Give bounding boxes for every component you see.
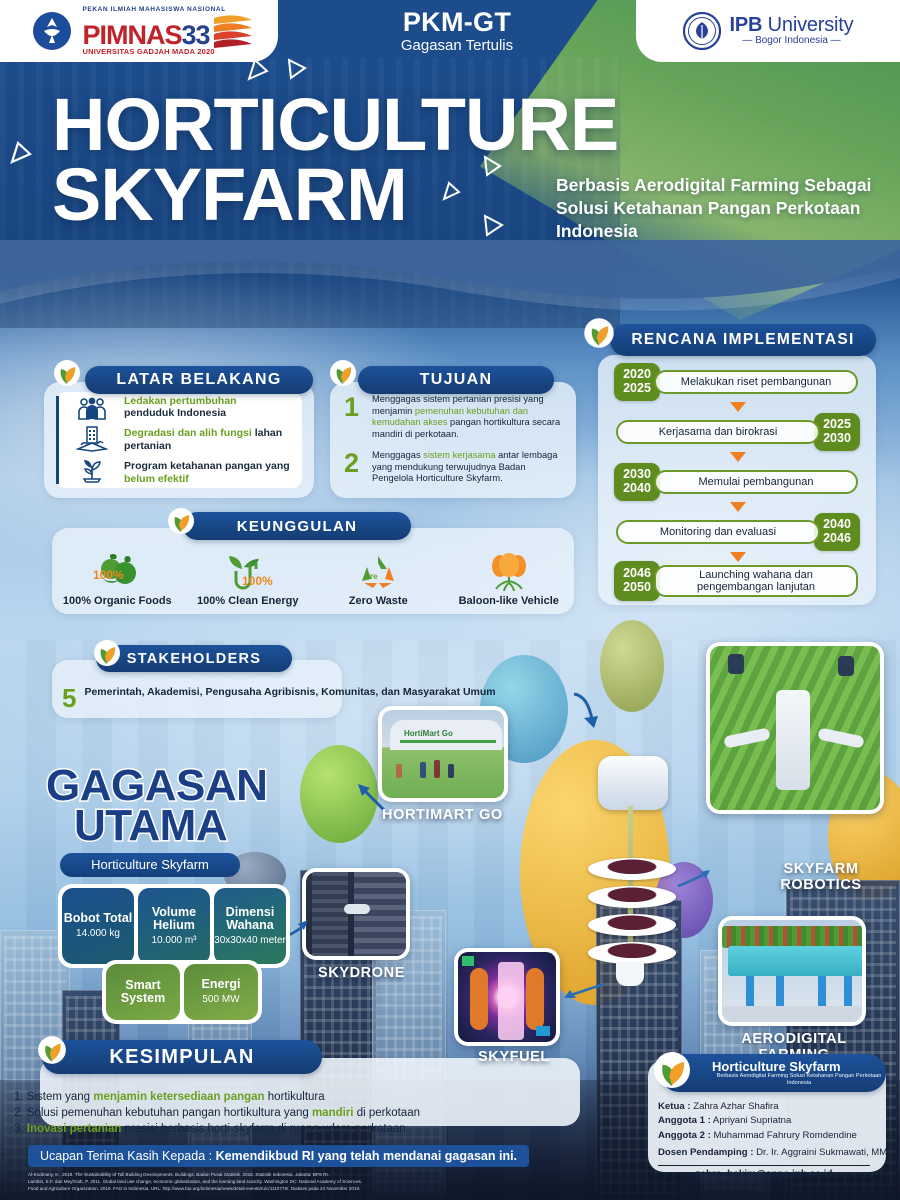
caption-skyfuel: SKYFUEL (478, 1050, 550, 1066)
ipb-name: IPB University (730, 15, 854, 36)
airship-ring-1 (588, 858, 676, 880)
team-subtitle: Berbasis Aerodigital Farming Solusi Keta… (712, 1073, 886, 1086)
list-item: 2. Solusi pemenuhan kebutuhan pangan hor… (14, 1106, 420, 1122)
airship-ring-2 (588, 886, 676, 908)
advantage-label: Zero Waste (349, 595, 408, 607)
main-idea-pill: Horticulture Skyfarm (60, 853, 240, 877)
pimnas-number: 33 (181, 23, 209, 47)
main-idea-line2: UTAMA (74, 806, 267, 846)
team-title: Horticulture Skyfarm (712, 1060, 841, 1074)
objective-number: 2 (344, 450, 364, 485)
photo-image (710, 646, 880, 810)
timeline-arrow-icon (729, 451, 747, 463)
airship-gondola (598, 756, 668, 810)
hero-subtitle: Berbasis Aerodigital Farming Sebagai Sol… (556, 174, 876, 243)
ipb-logo-block: IPB University — Bogor Indonesia — (636, 0, 900, 62)
advantages-grid: 100% 100% Organic Foods 100% 100% Clean … (52, 552, 574, 607)
leaf-badge-icon (36, 1034, 68, 1066)
list-item: 1. Sistem yang menjamin ketersediaan pan… (14, 1090, 420, 1106)
kemendikbud-logo-icon (32, 11, 72, 51)
list-item: Ledakan pertumbuhanpenduduk Indonesia (124, 395, 296, 421)
airship-tail (616, 962, 644, 986)
photo-skyfuel (454, 948, 560, 1046)
balloon-olive (600, 620, 664, 712)
advantage-item: Baloon-like Vehicle (444, 552, 575, 607)
timeline-label: Kerjasama dan birokrasi (616, 420, 820, 444)
team-email: zahra_hakim@apps.ipb.ac.id (658, 1169, 870, 1180)
caption-hortimart-go: HORTIMART GO (382, 808, 503, 824)
list-item: Program ketahanan pangan yang belum efek… (124, 460, 296, 486)
leaf-badge-icon (652, 1050, 692, 1090)
background-content: Ledakan pertumbuhanpenduduk Indonesia De… (56, 392, 302, 488)
timeline-label: Launching wahana dan pengembangan lanjut… (654, 565, 858, 597)
arrow-to-airship-icon (570, 690, 604, 730)
people-icon (75, 397, 109, 421)
top-logo-bar: PEKAN ILMIAH MAHASISWA NASIONAL PIMNAS 3… (0, 0, 900, 62)
triangle-decor-5 (480, 154, 504, 178)
pimnas-flag-icon (212, 14, 254, 48)
clean-energy-icon: 100% (220, 552, 276, 592)
reference-item: Lambin, E.F. dan Meyfroidt, P. 2011. Glo… (28, 1179, 588, 1186)
leaf-badge-icon (166, 506, 196, 536)
team-advisor-row: Dosen Pendamping : Dr. Ir. Aggraini Sukm… (658, 1146, 890, 1160)
caption-skydrone: SKYDRONE (318, 966, 405, 982)
timeline-label: Memulai pembangunan (654, 470, 858, 494)
advantage-label: 100% Clean Energy (197, 595, 299, 607)
photo-image (458, 952, 556, 1042)
objective-text: Menggagas sistem pertanian presisi yang … (372, 394, 566, 440)
airship-ring-3 (588, 914, 676, 936)
stakeholders-text: Pemerintah, Akademisi, Pengusaha Agribis… (84, 686, 495, 700)
stakeholders-content: 5 Pemerintah, Akademisi, Pengusaha Agrib… (62, 686, 496, 711)
pkm-subtitle: Gagasan Tertulis (401, 38, 513, 54)
leaf-badge-icon (328, 358, 358, 388)
plant-icon (78, 455, 106, 483)
stakeholders-heading: STAKEHOLDERS (96, 645, 292, 672)
reference-item: Al-Kodmany, K., 2018. The Sustainability… (28, 1172, 588, 1179)
advantage-item: 100% 100% Clean Energy (183, 552, 314, 607)
background-heading: LATAR BELAKANG (85, 366, 313, 394)
triangle-decor-6 (480, 212, 506, 238)
svg-text:re: re (370, 572, 378, 581)
photo-aerodigital-farming (718, 916, 866, 1026)
team-row: Ketua : Zahra Azhar Shafira (658, 1100, 890, 1114)
timeline-row: 20252030 Kerjasama dan birokrasi (598, 413, 876, 451)
conclusion-heading: KESIMPULAN (42, 1040, 322, 1074)
photo-image (722, 920, 862, 1022)
recycle-icon: re (356, 552, 400, 592)
pkm-title: PKM-GT (403, 8, 511, 36)
implementation-plan-panel: 20202025 Melakukan riset pembangunan 202… (598, 355, 876, 605)
references-block: Al-Kodmany, K., 2018. The Sustainability… (28, 1172, 588, 1193)
background-items: Ledakan pertumbuhanpenduduk Indonesia De… (120, 395, 302, 486)
reference-item: Food and Agriculture Organization. 2019.… (28, 1186, 588, 1193)
background-icon-column (56, 396, 120, 484)
timeline-row: 20462050 Launching wahana dan pengembang… (598, 561, 876, 601)
advantage-label: Baloon-like Vehicle (459, 595, 559, 607)
airship-ring-4 (588, 942, 676, 964)
timeline-label: Melakukan riset pembangunan (654, 370, 858, 394)
spec-energi: Energi 500 MW (184, 964, 258, 1020)
triangle-decor-3 (8, 140, 34, 166)
photo-image (306, 872, 406, 956)
leaf-badge-icon (582, 316, 616, 350)
hero-section: HORTICULTURE SKYFARM Berbasis Aerodigita… (0, 62, 900, 312)
advantages-heading: KEUNGGULAN (183, 512, 411, 540)
advantage-item: re Zero Waste (313, 552, 444, 607)
pimnas-wordmark: PEKAN ILMIAH MAHASISWA NASIONAL PIMNAS 3… (82, 7, 253, 55)
svg-text:100%: 100% (242, 574, 273, 588)
list-item: Degradasi dan alih fungsi lahan pertania… (124, 427, 296, 453)
timeline-arrow-icon (729, 401, 747, 413)
triangle-decor-4 (440, 180, 462, 202)
objective-number: 1 (344, 394, 364, 440)
photo-image: HortiMart Go (382, 710, 504, 798)
spec-card-secondary: Smart System Energi 500 MW (102, 960, 262, 1024)
spec-card-primary: Bobot Total 14.000 kg Volume Helium 10.0… (58, 884, 290, 968)
leaf-badge-icon (92, 638, 122, 668)
objective-text: Menggagas sistem kerjasama antar lembaga… (372, 450, 566, 485)
advantage-label: 100% Organic Foods (63, 595, 172, 607)
team-members: Ketua : Zahra Azhar Shafira Anggota 1 : … (658, 1100, 890, 1180)
timeline-label: Monitoring dan evaluasi (616, 520, 820, 544)
spec-volume-helium: Volume Helium 10.000 m³ (138, 888, 210, 964)
ipb-wordmark: IPB University — Bogor Indonesia — (730, 15, 854, 47)
balloon-vehicle-icon (484, 552, 534, 592)
timeline-row: 20302040 Memulai pembangunan (598, 463, 876, 501)
advantage-item: 100% 100% Organic Foods (52, 552, 183, 607)
leaf-badge-icon (52, 358, 82, 388)
objective-item-1: 1 Menggagas sistem pertanian presisi yan… (344, 394, 566, 440)
organic-food-icon: 100% (89, 552, 145, 592)
spec-smart-system: Smart System (106, 964, 180, 1020)
photo-hortimart-go: HortiMart Go (378, 706, 508, 802)
conclusion-list: 1. Sistem yang menjamin ketersediaan pan… (14, 1090, 420, 1138)
ipb-location: — Bogor Indonesia — (730, 36, 854, 47)
advantages-panel: 100% 100% Organic Foods 100% 100% Clean … (52, 528, 574, 614)
list-item: 3. Inovasi pertanian presisi berbasis ho… (14, 1122, 420, 1138)
objective-item-2: 2 Menggagas sistem kerjasama antar lemba… (344, 450, 566, 485)
timeline-year: 20252030 (814, 413, 860, 451)
page-title: HORTICULTURE SKYFARM (52, 90, 618, 229)
implementation-plan-heading: RENCANA IMPLEMENTASI (610, 324, 876, 356)
timeline-year: 20402046 (814, 513, 860, 551)
building-field-icon (76, 424, 108, 452)
arrow-to-robotics-icon (676, 864, 712, 890)
team-row: Anggota 1 : Apriyani Supriatna (658, 1114, 890, 1128)
acknowledgement-banner: Ucapan Terima Kasih Kepada : Kemendikbud… (28, 1145, 529, 1167)
pimnas-host: UNIVERSITAS GADJAH MADA 2020 (82, 48, 253, 56)
spec-dimensi-wahana: Dimensi Wahana 30x30x40 meter (214, 888, 286, 964)
photo-skydrone (302, 868, 410, 960)
team-divider (658, 1165, 870, 1166)
svg-text:100%: 100% (93, 568, 124, 582)
pimnas-word: PIMNAS (82, 23, 181, 47)
caption-skyfarm-robotics: SKYFARM ROBOTICS (742, 862, 900, 893)
main-idea-block: GAGASAN UTAMA Horticulture Skyfarm (46, 766, 267, 877)
timeline-row: 20402046 Monitoring dan evaluasi (598, 513, 876, 551)
objectives-panel: 1 Menggagas sistem pertanian presisi yan… (330, 382, 576, 498)
hero-title-line2: SKYFARM (52, 160, 618, 230)
main-idea-line1: GAGASAN (46, 766, 267, 806)
arrow-to-skyfuel-icon (562, 978, 606, 1004)
objectives-heading: TUJUAN (358, 366, 554, 394)
timeline-arrow-icon (729, 501, 747, 513)
background-panel: Ledakan pertumbuhanpenduduk Indonesia De… (44, 382, 314, 498)
ipb-seal-icon (683, 12, 721, 50)
pimnas-logo-block: PEKAN ILMIAH MAHASISWA NASIONAL PIMNAS 3… (0, 0, 278, 62)
photo-skyfarm-robotics (706, 642, 884, 814)
timeline-row: 20202025 Melakukan riset pembangunan (598, 363, 876, 401)
spec-bobot-total: Bobot Total 14.000 kg (62, 888, 134, 964)
stakeholders-count: 5 (62, 686, 76, 711)
pkm-scheme-block: PKM-GT Gagasan Tertulis (278, 0, 636, 62)
team-header-pill: Horticulture Skyfarm Berbasis Aerodigita… (660, 1054, 886, 1092)
team-row: Anggota 2 : Muhammad Fahrury Romdendine (658, 1129, 890, 1143)
